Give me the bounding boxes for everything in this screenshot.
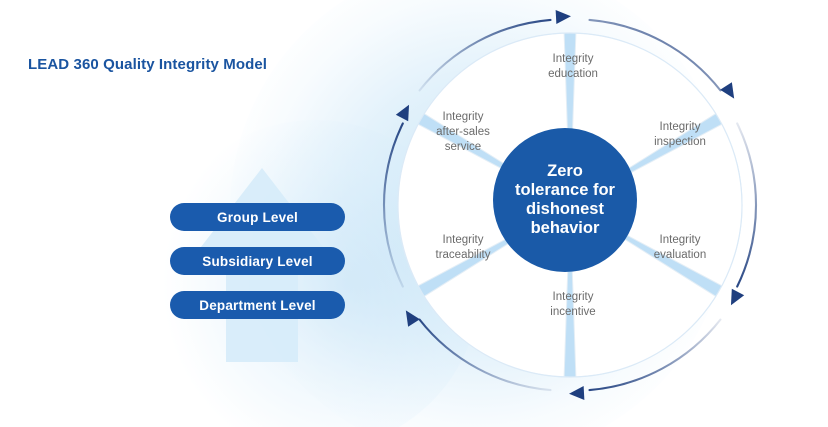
page-title: LEAD 360 Quality Integrity Model	[28, 56, 267, 73]
level-pill-subsidiary[interactable]: Subsidiary Level	[170, 247, 345, 275]
wheel-hub: Zero tolerance for dishonest behavior	[493, 128, 637, 272]
wheel-hub-text: Zero tolerance for dishonest behavior	[505, 162, 625, 238]
level-pill-label: Department Level	[199, 298, 316, 313]
level-pill-label: Subsidiary Level	[202, 254, 313, 269]
level-pill-group[interactable]: Group Level	[170, 203, 345, 231]
level-pill-department[interactable]: Department Level	[170, 291, 345, 319]
diagram-canvas: LEAD 360 Quality Integrity Model Group L…	[0, 0, 828, 427]
level-pill-label: Group Level	[217, 210, 298, 225]
